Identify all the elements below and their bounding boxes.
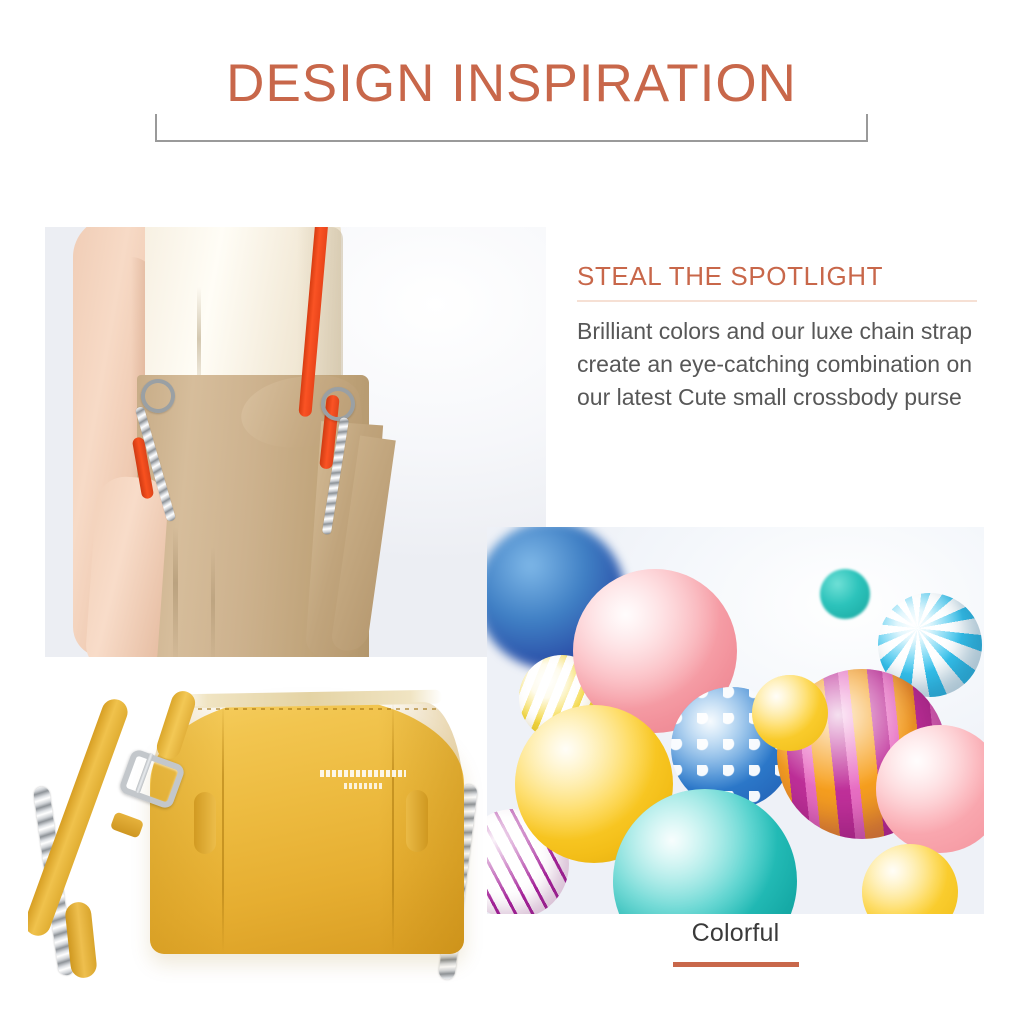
product-bag-seam-left xyxy=(222,702,224,952)
model-photo xyxy=(45,227,546,657)
product-strap-keeper xyxy=(110,811,144,838)
model-skirt-fold-right xyxy=(211,547,215,657)
product-bag-tab-right xyxy=(406,790,428,852)
caption-label: Colorful xyxy=(487,918,984,948)
sphere-teal-small xyxy=(820,569,870,619)
sphere-yellow-medium xyxy=(752,675,828,751)
copy-body-text: Brilliant colors and our luxe chain stra… xyxy=(577,315,983,414)
strap-ring-right xyxy=(321,387,355,421)
product-bag-body xyxy=(150,696,464,954)
caption-block: Colorful xyxy=(487,918,984,967)
copy-heading: STEAL THE SPOTLIGHT xyxy=(577,262,983,291)
caption-underline xyxy=(673,962,799,967)
product-bag-seam-right xyxy=(392,700,394,952)
product-bag-stitching xyxy=(180,708,438,710)
product-photo-yellow-bag xyxy=(28,666,494,1006)
product-brand-stamp xyxy=(320,770,406,794)
model-forearm xyxy=(84,475,169,657)
copy-block: STEAL THE SPOTLIGHT Brilliant colors and… xyxy=(577,262,983,414)
header-banner: DESIGN INSPIRATION xyxy=(155,64,868,142)
copy-divider-rule xyxy=(577,300,977,302)
page-title: DESIGN INSPIRATION xyxy=(155,51,868,114)
frame-bottom-edge xyxy=(155,140,868,142)
model-skirt-fold-left xyxy=(173,527,178,657)
spheres-photo xyxy=(487,527,984,914)
sphere-gloss xyxy=(752,675,828,751)
brand-stamp-line-2 xyxy=(344,783,384,789)
brand-stamp-line-1 xyxy=(320,770,406,777)
product-bag-tab-left xyxy=(194,792,216,854)
